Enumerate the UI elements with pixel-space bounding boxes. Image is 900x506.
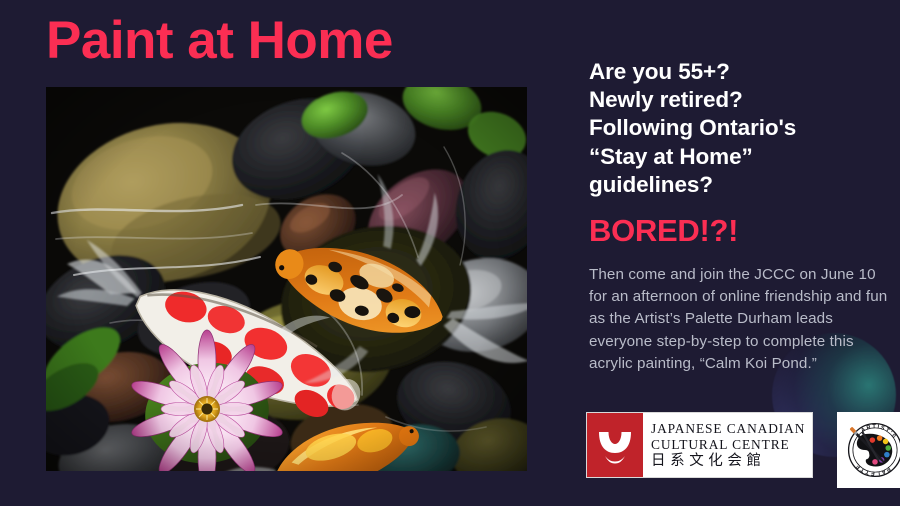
headline-line-5: guidelines? [589,171,889,199]
headline-line-1: Are you 55+? [589,58,889,86]
logo-row: JAPANESE CANADIAN CULTURAL CENTRE 日系文化会館… [586,412,900,488]
body-paragraph: Then come and join the JCCC on June 10 f… [589,264,889,375]
koi-pond-painting [46,87,527,471]
artwork-image [46,87,527,471]
bored-emphasis-text: BORED!?! [589,215,889,246]
jccc-bowl-glyph [595,425,635,465]
headline-line-4: “Stay at Home” [589,143,889,171]
jccc-name-japanese: 日系文化会館 [651,454,805,470]
headline-line-3: Following Ontario's [589,114,889,142]
right-content-column: Are you 55+? Newly retired? Following On… [589,58,889,375]
page-title: Paint at Home [46,13,393,69]
headline-block: Are you 55+? Newly retired? Following On… [589,58,889,199]
artists-palette-logo: ARTIST'S PALETTE [837,412,900,488]
jccc-logo: JAPANESE CANADIAN CULTURAL CENTRE 日系文化会館 [586,412,813,478]
jccc-logo-text: JAPANESE CANADIAN CULTURAL CENTRE 日系文化会館 [643,413,812,477]
jccc-name-line-1: JAPANESE CANADIAN [651,421,805,437]
slide-canvas: Paint at Home [0,0,900,506]
jccc-mark-icon [587,413,643,477]
jccc-name-line-2: CULTURAL CENTRE [651,437,805,453]
headline-line-2: Newly retired? [589,86,889,114]
palette-icon: ARTIST'S PALETTE [842,417,900,483]
